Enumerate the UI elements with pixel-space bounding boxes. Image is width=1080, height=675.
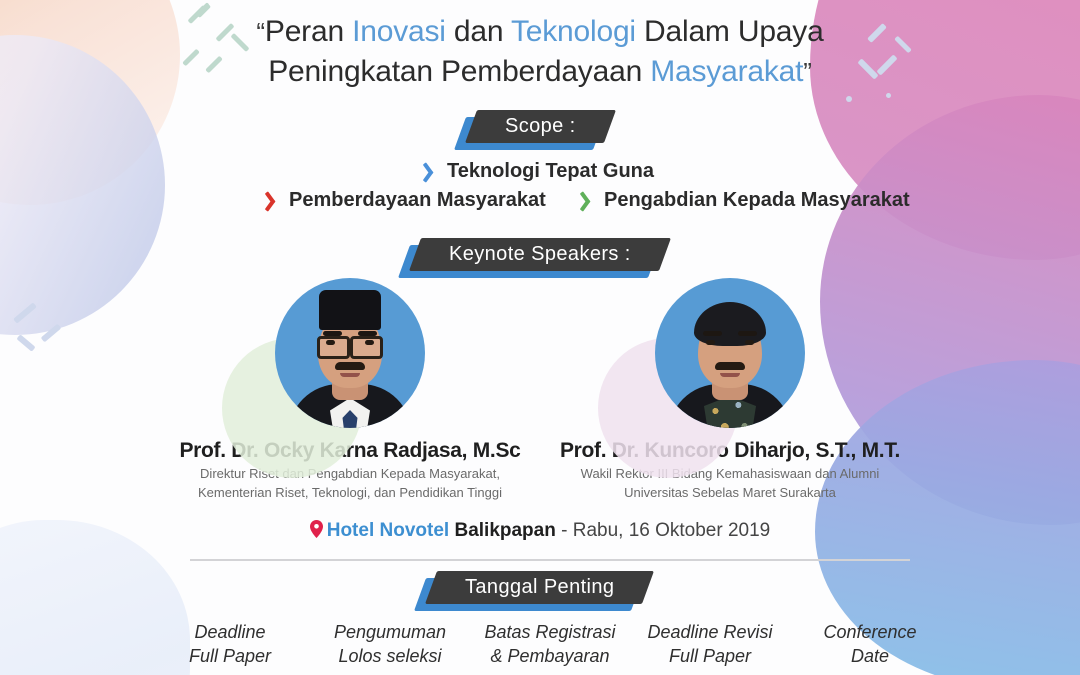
speaker-role-line-2: Kementerian Riset, Teknologi, dan Pendid… <box>150 485 550 501</box>
decorative-dot-blue <box>886 93 891 98</box>
chevron-right-icon <box>426 161 440 183</box>
speaker-role-line-1: Wakil Rektor III Bidang Kemahasiswaan da… <box>530 466 930 482</box>
date-column: Deadline Revisi Full Paper <box>630 620 790 668</box>
event-poster: “Peran Inovasi dan Teknologi Dalam Upaya… <box>0 0 1080 675</box>
speaker-role-line-1: Direktur Riset dan Pengabdian Kepada Mas… <box>150 466 550 482</box>
speaker-role-line-2: Universitas Sebelas Maret Surakarta <box>530 485 930 501</box>
scope-item-label: Pemberdayaan Masyarakat <box>289 189 546 212</box>
portrait-moustache <box>715 362 745 370</box>
important-dates-banner-label: Tanggal Penting <box>465 576 614 599</box>
section-divider <box>190 559 910 561</box>
scope-item-label: Pengabdian Kepada Masyarakat <box>604 189 910 212</box>
title-highlight-inovasi: Inovasi <box>352 15 446 48</box>
keynote-banner: Keynote Speakers : <box>415 238 665 271</box>
chevron-right-icon <box>268 190 282 212</box>
date-column: Conference Date <box>790 620 950 668</box>
date-column-line-2: Full Paper <box>630 644 790 668</box>
portrait-mouth <box>340 373 360 377</box>
venue-date: - Rabu, 16 Oktober 2019 <box>556 520 770 541</box>
important-dates-banner: Tanggal Penting <box>431 571 648 604</box>
date-column: Batas Registrasi & Pembayaran <box>470 620 630 668</box>
portrait-peci-cap <box>319 290 381 330</box>
scope-banner: Scope : <box>471 110 610 143</box>
title-line-1: “Peran Inovasi dan Teknologi Dalam Upaya <box>0 12 1080 52</box>
date-column-line-2: & Pembayaran <box>470 644 630 668</box>
date-column-line-2: Date <box>790 644 950 668</box>
decorative-dash-blue <box>41 324 62 343</box>
decorative-dash-blue <box>16 334 35 351</box>
title-line-2: Peningkatan Pemberdayaan Masyarakat” <box>0 52 1080 92</box>
keynote-banner-label: Keynote Speakers : <box>449 243 631 266</box>
banner-body: Scope : <box>465 110 616 143</box>
banner-body: Keynote Speakers : <box>409 238 671 271</box>
date-column-line-2: Full Paper <box>150 644 310 668</box>
title-highlight-teknologi: Teknologi <box>511 15 636 48</box>
poster-title: “Peran Inovasi dan Teknologi Dalam Upaya… <box>0 12 1080 92</box>
open-quote: “ <box>256 17 264 47</box>
scope-item-teknologi-tepat-guna: Teknologi Tepat Guna <box>426 160 654 183</box>
speaker-name: Prof. Dr. Kuncoro Diharjo, S.T., M.T. <box>530 439 930 463</box>
date-column: Deadline Full Paper <box>150 620 310 668</box>
title-text-2: dan <box>446 15 511 48</box>
portrait-mouth <box>720 373 740 377</box>
title-text-4: Peningkatan Pemberdayaan <box>268 55 650 88</box>
date-column-line-1: Batas Registrasi <box>470 620 630 644</box>
title-text-3: Dalam Upaya <box>636 15 824 48</box>
title-highlight-masyarakat: Masyarakat <box>650 55 803 88</box>
scope-item-row-top: Teknologi Tepat Guna <box>0 160 1080 188</box>
venue-line: Hotel Novotel Balikpapan - Rabu, 16 Okto… <box>0 520 1080 544</box>
title-text-1: Peran <box>265 15 352 48</box>
date-column-line-1: Deadline <box>150 620 310 644</box>
scope-banner-label: Scope : <box>505 115 576 138</box>
speaker-photo-2 <box>655 278 805 428</box>
chevron-right-icon <box>583 190 597 212</box>
venue-hotel-name: Hotel Novotel <box>327 520 449 541</box>
portrait-eyes <box>326 340 374 346</box>
close-quote: ” <box>803 57 811 87</box>
decorative-dash-blue <box>13 302 37 323</box>
important-dates-columns: Deadline Full Paper Pengumuman Lolos sel… <box>150 620 950 668</box>
speaker-photo-1 <box>275 278 425 428</box>
important-dates-banner-container: Tanggal Penting <box>0 571 1080 604</box>
scope-banner-container: Scope : <box>0 110 1080 143</box>
date-column: Pengumuman Lolos seleksi <box>310 620 470 668</box>
scope-item-pemberdayaan-masyarakat: Pemberdayaan Masyarakat <box>268 189 546 212</box>
date-column-line-1: Pengumuman <box>310 620 470 644</box>
venue-city: Balikpapan <box>454 520 555 541</box>
portrait-eyes <box>706 340 754 346</box>
speaker-card-1: Prof. Dr. Ocky Karna Radjasa, M.Sc Direk… <box>150 278 550 501</box>
decorative-dot-blue <box>846 96 852 102</box>
location-pin-icon <box>310 520 323 544</box>
date-column-line-1: Deadline Revisi <box>630 620 790 644</box>
banner-body: Tanggal Penting <box>425 571 654 604</box>
date-column-line-1: Conference <box>790 620 950 644</box>
scope-item-label: Teknologi Tepat Guna <box>447 160 654 183</box>
date-column-line-2: Lolos seleksi <box>310 644 470 668</box>
keynote-banner-container: Keynote Speakers : <box>0 238 1080 271</box>
portrait-eyebrows <box>703 331 757 336</box>
speaker-card-2: Prof. Dr. Kuncoro Diharjo, S.T., M.T. Wa… <box>530 278 930 501</box>
scope-item-pengabdian-kepada-masyarakat: Pengabdian Kepada Masyarakat <box>583 189 910 212</box>
portrait-moustache <box>335 362 365 370</box>
